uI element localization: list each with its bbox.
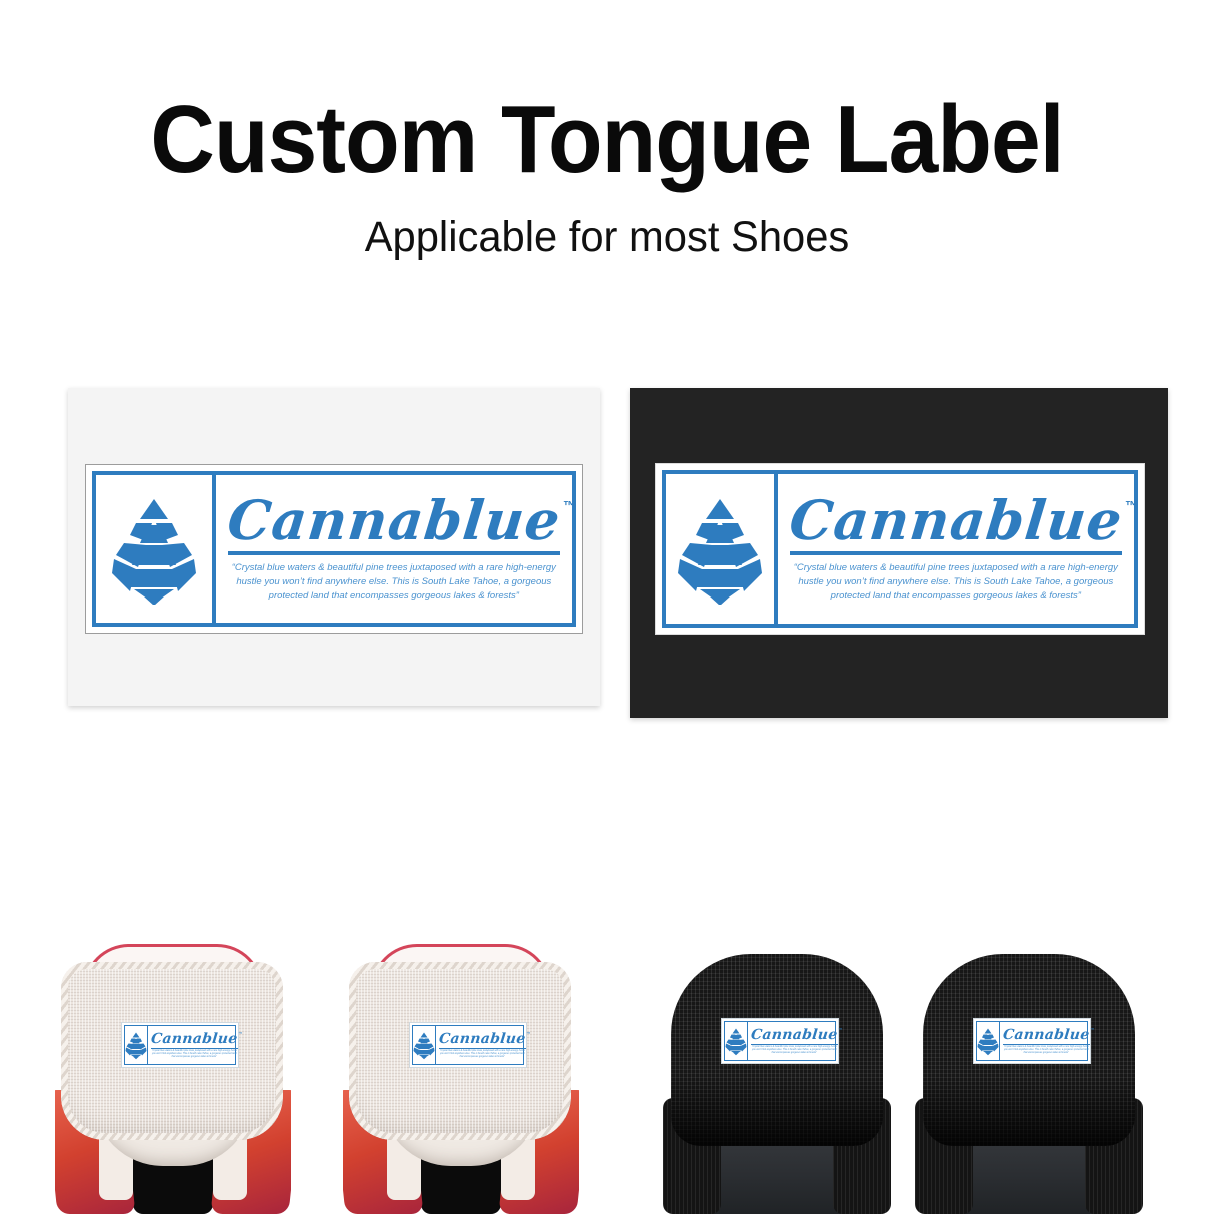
wordmark-row: Cannablue ™	[439, 1031, 526, 1047]
trademark-icon: ™	[1125, 499, 1138, 512]
brand-wordmark: Cannablue	[438, 1032, 526, 1046]
divider-rule	[439, 1048, 526, 1049]
tongue-label-light: Cannablue ™ “Crystal blue waters & beaut…	[85, 464, 583, 634]
wordmark-row: Cannablue ™	[151, 1031, 238, 1047]
brand-wordmark: Cannablue	[750, 1028, 838, 1042]
wordmark-row: Cannablue ™	[790, 493, 1122, 547]
pinecone-icon	[725, 1026, 747, 1056]
trademark-icon: ™	[527, 1032, 531, 1036]
brand-wordmark: Cannablue	[1002, 1028, 1090, 1042]
label-inner: Cannablue ™ “Crystal blue waters & beaut…	[976, 1021, 1088, 1061]
shoe-cream-right: Cannablue ™ “Crystal blue waters & beaut…	[343, 940, 583, 1214]
brand-wordmark: Cannablue	[150, 1032, 238, 1046]
label-inner: Cannablue ™ “Crystal blue waters & beaut…	[724, 1021, 836, 1061]
label-inner: Cannablue ™ “Crystal blue waters & beaut…	[92, 471, 576, 627]
logo-pane	[413, 1026, 436, 1064]
label-card-dark[interactable]: Cannablue ™ “Crystal blue waters & beaut…	[630, 388, 1168, 718]
tongue-label-mini: Cannablue ™ “Crystal blue waters & beaut…	[409, 1022, 527, 1068]
tongue-label-dark: Cannablue ™ “Crystal blue waters & beaut…	[655, 463, 1145, 635]
tongue-label-mini: Cannablue ™ “Crystal blue waters & beaut…	[973, 1018, 1091, 1064]
trademark-icon: ™	[1091, 1028, 1095, 1032]
brand-tagline: “Crystal blue waters & beautiful pine tr…	[1003, 1046, 1090, 1055]
brand-tagline: “Crystal blue waters & beautiful pine tr…	[151, 1050, 238, 1059]
pinecone-icon	[977, 1026, 999, 1056]
tongue-label-mini: Cannablue ™ “Crystal blue waters & beaut…	[721, 1018, 839, 1064]
brand-tagline: “Crystal blue waters & beautiful pine tr…	[439, 1050, 526, 1059]
logo-pane	[125, 1026, 148, 1064]
shoe-cream-left: Cannablue ™ “Crystal blue waters & beaut…	[55, 940, 295, 1214]
shoe-black-left: Cannablue ™ “Crystal blue waters & beaut…	[665, 940, 889, 1214]
label-inner: Cannablue ™ “Crystal blue waters & beaut…	[662, 470, 1138, 628]
wordmark-row: Cannablue ™	[751, 1027, 838, 1043]
brand-wordmark: Cannablue	[787, 493, 1125, 547]
page-subtitle: Applicable for most Shoes	[18, 216, 1196, 259]
label-inner: Cannablue ™ “Crystal blue waters & beaut…	[124, 1025, 236, 1065]
trademark-icon: ™	[239, 1032, 243, 1036]
brand-tagline: “Crystal blue waters & beautiful pine tr…	[790, 561, 1122, 602]
text-pane: Cannablue ™ “Crystal blue waters & beaut…	[216, 475, 572, 623]
divider-rule	[751, 1044, 838, 1045]
tongue-label-mini: Cannablue ™ “Crystal blue waters & beaut…	[121, 1022, 239, 1068]
label-card-row: Cannablue ™ “Crystal blue waters & beaut…	[0, 388, 1214, 718]
trademark-icon: ™	[839, 1028, 843, 1032]
text-pane: Cannablue ™ “Crystal blue waters & beaut…	[1000, 1022, 1093, 1060]
pinecone-icon	[676, 493, 764, 605]
header: Custom Tongue Label Applicable for most …	[0, 0, 1214, 300]
shoe-pair-black[interactable]: Cannablue ™ “Crystal blue waters & beaut…	[665, 940, 1160, 1214]
wordmark-row: Cannablue ™	[1003, 1027, 1090, 1043]
product-photo-row: Cannablue ™ “Crystal blue waters & beaut…	[0, 940, 1214, 1214]
label-inner: Cannablue ™ “Crystal blue waters & beaut…	[412, 1025, 524, 1065]
divider-rule	[151, 1048, 238, 1049]
divider-rule	[1003, 1044, 1090, 1045]
brand-tagline: “Crystal blue waters & beautiful pine tr…	[228, 561, 560, 602]
page-title: Custom Tongue Label	[42, 92, 1171, 188]
logo-pane	[977, 1022, 1000, 1060]
pinecone-icon	[125, 1030, 147, 1060]
brand-wordmark: Cannablue	[225, 493, 563, 547]
pinecone-icon	[413, 1030, 435, 1060]
text-pane: Cannablue ™ “Crystal blue waters & beaut…	[778, 474, 1134, 624]
wordmark-row: Cannablue ™	[228, 493, 560, 547]
logo-pane	[725, 1022, 748, 1060]
text-pane: Cannablue ™ “Crystal blue waters & beaut…	[748, 1022, 841, 1060]
label-card-light[interactable]: Cannablue ™ “Crystal blue waters & beaut…	[68, 388, 600, 706]
brand-tagline: “Crystal blue waters & beautiful pine tr…	[751, 1046, 838, 1055]
text-pane: Cannablue ™ “Crystal blue waters & beaut…	[148, 1026, 241, 1064]
shoe-black-right: Cannablue ™ “Crystal blue waters & beaut…	[917, 940, 1141, 1214]
logo-pane	[666, 474, 778, 624]
shoe-pair-cream[interactable]: Cannablue ™ “Crystal blue waters & beaut…	[55, 940, 615, 1214]
pinecone-icon	[110, 493, 198, 605]
text-pane: Cannablue ™ “Crystal blue waters & beaut…	[436, 1026, 529, 1064]
logo-pane	[96, 475, 216, 623]
trademark-icon: ™	[563, 499, 576, 512]
